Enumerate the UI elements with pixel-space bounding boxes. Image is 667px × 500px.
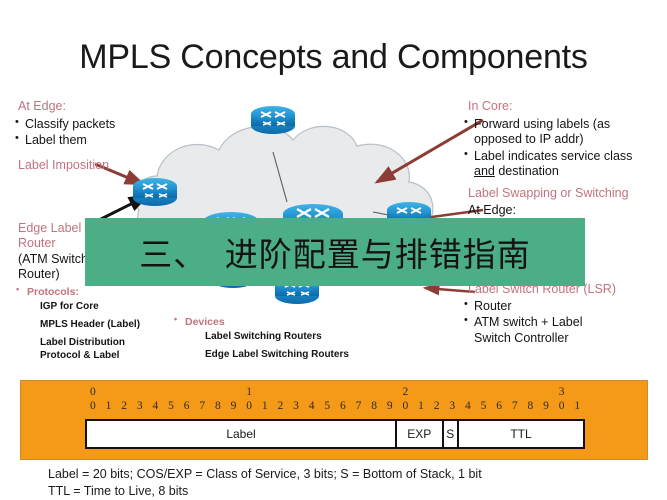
- bit-ruler-one-11: 1: [257, 399, 273, 413]
- bit-ruler-ten-8: [210, 385, 226, 399]
- bit-ruler-ten-5: [163, 385, 179, 399]
- bit-ruler-one-29: 9: [538, 399, 554, 413]
- label-swapping-heading: Label Swapping or Switching: [468, 186, 667, 201]
- bit-ruler-ten-20: 2: [398, 385, 414, 399]
- mpls-header-panel: 0123 01234567890123456789012345678901 La…: [20, 380, 648, 460]
- mpls-legend: Label = 20 bits; COS/EXP = Class of Serv…: [48, 466, 648, 500]
- bit-ruler-one-2: 2: [116, 399, 132, 413]
- bit-ruler-ten-1: [101, 385, 117, 399]
- mpls-field-s: S: [444, 421, 460, 447]
- list-item: Label them: [14, 133, 184, 148]
- bit-ruler-one-13: 3: [288, 399, 304, 413]
- bit-ruler-one-1: 1: [101, 399, 117, 413]
- left-edge-bullets: Classify packets Label them: [14, 117, 184, 150]
- bit-ruler: 0123 01234567890123456789012345678901: [85, 385, 585, 415]
- bit-ruler-one-7: 7: [194, 399, 210, 413]
- devices-heading-wrap: Devices: [172, 316, 402, 329]
- bit-ruler-ten-10: 1: [241, 385, 257, 399]
- list-item-line-2: opposed to IP addr): [474, 132, 584, 146]
- bit-ruler-ten-26: [491, 385, 507, 399]
- list-item: Classify packets: [14, 117, 184, 132]
- protocols-heading: Protocols:: [14, 286, 184, 299]
- bit-ruler-one-25: 5: [476, 399, 492, 413]
- bit-ruler-ten-23: [444, 385, 460, 399]
- right-at-edge-heading: At Edge:: [468, 203, 667, 218]
- bit-ruler-ten-0: 0: [85, 385, 101, 399]
- bit-ruler-one-26: 6: [491, 399, 507, 413]
- bit-ruler-ten-3: [132, 385, 148, 399]
- in-core-heading: In Core:: [468, 99, 667, 114]
- list-item: IGP for Core: [40, 301, 200, 313]
- list-item: Forward using labels (as opposed to IP a…: [463, 117, 667, 148]
- bit-ruler-ones: 01234567890123456789012345678901: [85, 399, 585, 413]
- bit-ruler-ten-17: [351, 385, 367, 399]
- bit-ruler-one-0: 0: [85, 399, 101, 413]
- slide-canvas: MPLS Concepts and Components: [0, 0, 667, 500]
- bit-ruler-one-3: 3: [132, 399, 148, 413]
- bit-ruler-one-6: 6: [179, 399, 195, 413]
- bit-ruler-tens: 0123: [85, 385, 585, 399]
- bit-ruler-ten-12: [273, 385, 289, 399]
- bit-ruler-one-12: 2: [273, 399, 289, 413]
- bit-ruler-ten-31: [569, 385, 585, 399]
- bit-ruler-ten-6: [179, 385, 195, 399]
- list-item: Label Switching Routers: [205, 331, 445, 343]
- section-banner-text: 三、 进阶配置与排错指南: [139, 228, 531, 276]
- bit-ruler-one-8: 8: [210, 399, 226, 413]
- list-item-cont: Protocol & Label: [40, 350, 200, 362]
- bit-ruler-one-16: 6: [335, 399, 351, 413]
- list-item-line-1: Forward using labels (as: [474, 117, 610, 131]
- mpls-field-boxes: LabelEXPSTTL: [85, 419, 585, 449]
- bit-ruler-one-4: 4: [148, 399, 164, 413]
- bit-ruler-ten-30: 3: [554, 385, 570, 399]
- bit-ruler-ten-13: [288, 385, 304, 399]
- bit-ruler-ten-16: [335, 385, 351, 399]
- bit-ruler-one-28: 8: [523, 399, 539, 413]
- bit-ruler-one-21: 1: [413, 399, 429, 413]
- list-item: Label indicates service class and destin…: [463, 149, 667, 180]
- bit-ruler-ten-24: [460, 385, 476, 399]
- devices-heading: Devices: [172, 316, 402, 329]
- list-item-line-2: Switch Controller: [474, 331, 568, 345]
- bit-ruler-one-30: 0: [554, 399, 570, 413]
- bit-ruler-ten-9: [226, 385, 242, 399]
- bit-ruler-ten-2: [116, 385, 132, 399]
- bit-ruler-ten-19: [382, 385, 398, 399]
- bit-ruler-ten-21: [413, 385, 429, 399]
- bit-ruler-one-20: 0: [398, 399, 414, 413]
- list-item-line-1: ATM switch + Label: [474, 315, 583, 329]
- list-item-line-1: Label indicates service class: [474, 149, 632, 163]
- bit-ruler-one-14: 4: [304, 399, 320, 413]
- bit-ruler-ten-4: [148, 385, 164, 399]
- bit-ruler-one-23: 3: [444, 399, 460, 413]
- list-item-underlined: and: [474, 164, 495, 178]
- bit-ruler-ten-27: [507, 385, 523, 399]
- section-banner: 三、 进阶配置与排错指南: [85, 218, 585, 286]
- protocols-heading-wrap: Protocols:: [14, 286, 184, 299]
- list-item: Label Distribution: [40, 337, 200, 349]
- bit-ruler-one-17: 7: [351, 399, 367, 413]
- list-item: ATM switch + Label Switch Controller: [463, 315, 667, 346]
- bit-ruler-one-15: 5: [319, 399, 335, 413]
- bit-ruler-ten-28: [523, 385, 539, 399]
- bit-ruler-one-22: 2: [429, 399, 445, 413]
- list-item-line-2: destination: [495, 164, 559, 178]
- router-icon: [133, 178, 177, 206]
- mpls-field-label: Label: [87, 421, 397, 447]
- bit-ruler-ten-29: [538, 385, 554, 399]
- protocols-list: IGP for Core MPLS Header (Label) Label D…: [40, 301, 200, 362]
- in-core-bullets: Forward using labels (as opposed to IP a…: [463, 117, 667, 180]
- mpls-field-ttl: TTL: [459, 421, 583, 447]
- bit-ruler-ten-18: [366, 385, 382, 399]
- lsr-bullets: Router ATM switch + Label Switch Control…: [463, 299, 667, 347]
- router-icon: [251, 106, 295, 134]
- bit-ruler-one-19: 9: [382, 399, 398, 413]
- devices-list: Label Switching Routers Edge Label Switc…: [205, 331, 445, 367]
- legend-line-2: TTL = Time to Live, 8 bits: [48, 483, 648, 500]
- label-imposition-heading: Label Imposition: [18, 158, 193, 173]
- bit-ruler-one-9: 9: [226, 399, 242, 413]
- bit-ruler-ten-11: [257, 385, 273, 399]
- bit-ruler-ten-25: [476, 385, 492, 399]
- bit-ruler-ten-22: [429, 385, 445, 399]
- list-item: Router: [463, 299, 667, 314]
- mpls-field-exp: EXP: [397, 421, 444, 447]
- bit-ruler-ten-7: [194, 385, 210, 399]
- bit-ruler-one-10: 0: [241, 399, 257, 413]
- page-title: MPLS Concepts and Components: [0, 38, 667, 77]
- list-item: Edge Label Switching Routers: [205, 349, 445, 361]
- bit-ruler-one-27: 7: [507, 399, 523, 413]
- left-at-edge-heading: At Edge:: [18, 99, 183, 114]
- legend-line-1: Label = 20 bits; COS/EXP = Class of Serv…: [48, 466, 648, 483]
- bit-ruler-one-24: 4: [460, 399, 476, 413]
- bit-ruler-one-5: 5: [163, 399, 179, 413]
- bit-ruler-one-31: 1: [569, 399, 585, 413]
- bit-ruler-one-18: 8: [366, 399, 382, 413]
- bit-ruler-ten-14: [304, 385, 320, 399]
- bit-ruler-ten-15: [319, 385, 335, 399]
